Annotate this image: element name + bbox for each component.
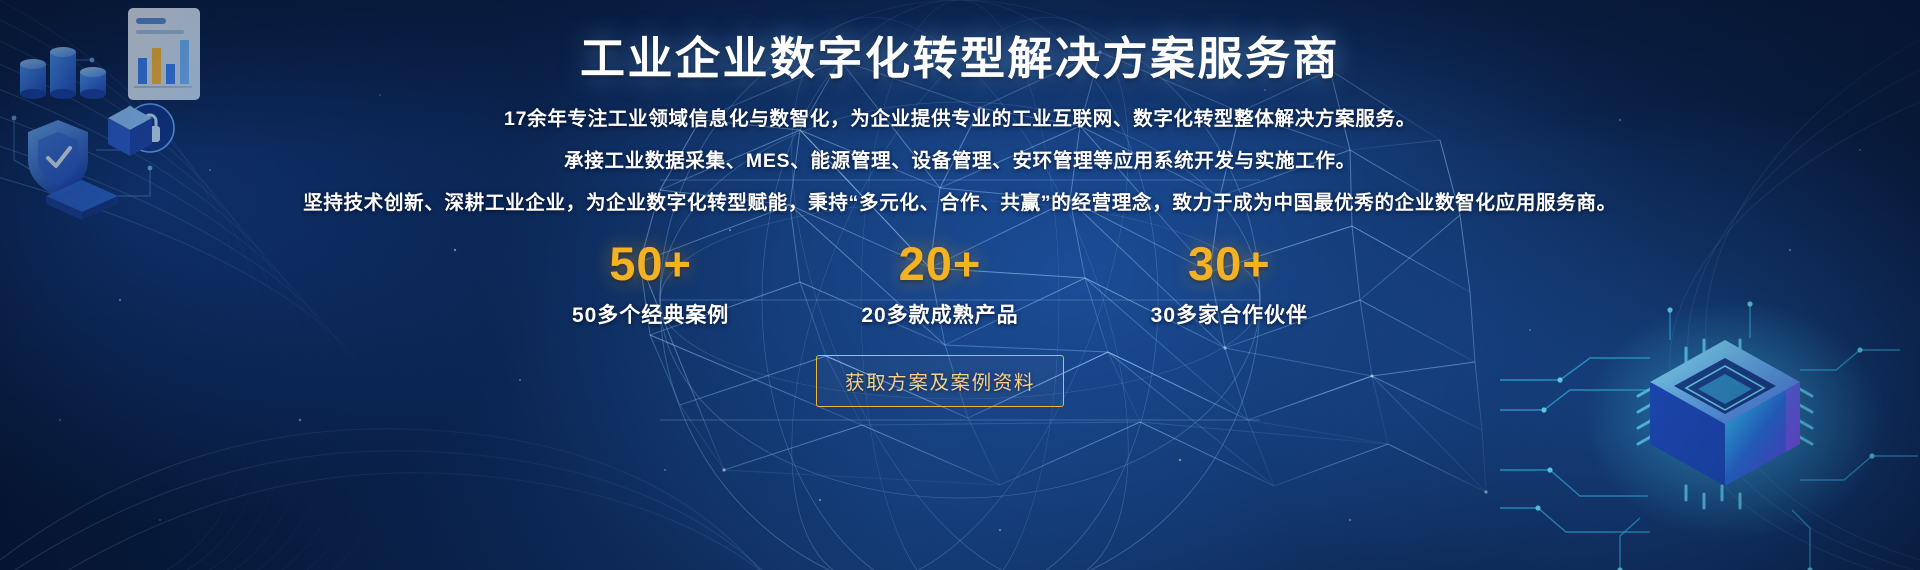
- get-solution-button[interactable]: 获取方案及案例资料: [816, 355, 1064, 407]
- subtitle-line-1: 17余年专注工业领域信息化与数智化，为企业提供专业的工业互联网、数字化转型整体解…: [504, 102, 1416, 131]
- stat-label: 30多家合作伙伴: [1151, 299, 1308, 329]
- banner-content: 工业企业数字化转型解决方案服务商 17余年专注工业领域信息化与数智化，为企业提供…: [0, 0, 1920, 570]
- stat-number: 20+: [899, 240, 982, 287]
- page-title: 工业企业数字化转型解决方案服务商: [580, 36, 1340, 81]
- stat-label: 20多款成熟产品: [861, 299, 1018, 329]
- stat-item-cases: 50+ 50多个经典案例: [572, 240, 729, 329]
- hero-banner: 工业企业数字化转型解决方案服务商 17余年专注工业领域信息化与数智化，为企业提供…: [0, 0, 1920, 570]
- stat-label: 50多个经典案例: [572, 299, 729, 329]
- subtitle-line-3: 坚持技术创新、深耕工业企业，为企业数字化转型赋能，秉持“多元化、合作、共赢”的经…: [303, 186, 1617, 215]
- subtitle-group: 17余年专注工业领域信息化与数智化，为企业提供专业的工业互联网、数字化转型整体解…: [303, 102, 1617, 215]
- stat-number: 50+: [609, 240, 692, 287]
- subtitle-line-2: 承接工业数据采集、MES、能源管理、设备管理、安环管理等应用系统开发与实施工作。: [564, 144, 1356, 173]
- stat-number: 30+: [1188, 240, 1271, 287]
- stat-item-partners: 30+ 30多家合作伙伴: [1151, 240, 1308, 329]
- stat-item-products: 20+ 20多款成熟产品: [861, 240, 1018, 329]
- cta-wrapper: 获取方案及案例资料: [816, 355, 1104, 407]
- stats-group: 50+ 50多个经典案例 20+ 20多款成熟产品 30+ 30多家合作伙伴: [572, 240, 1348, 329]
